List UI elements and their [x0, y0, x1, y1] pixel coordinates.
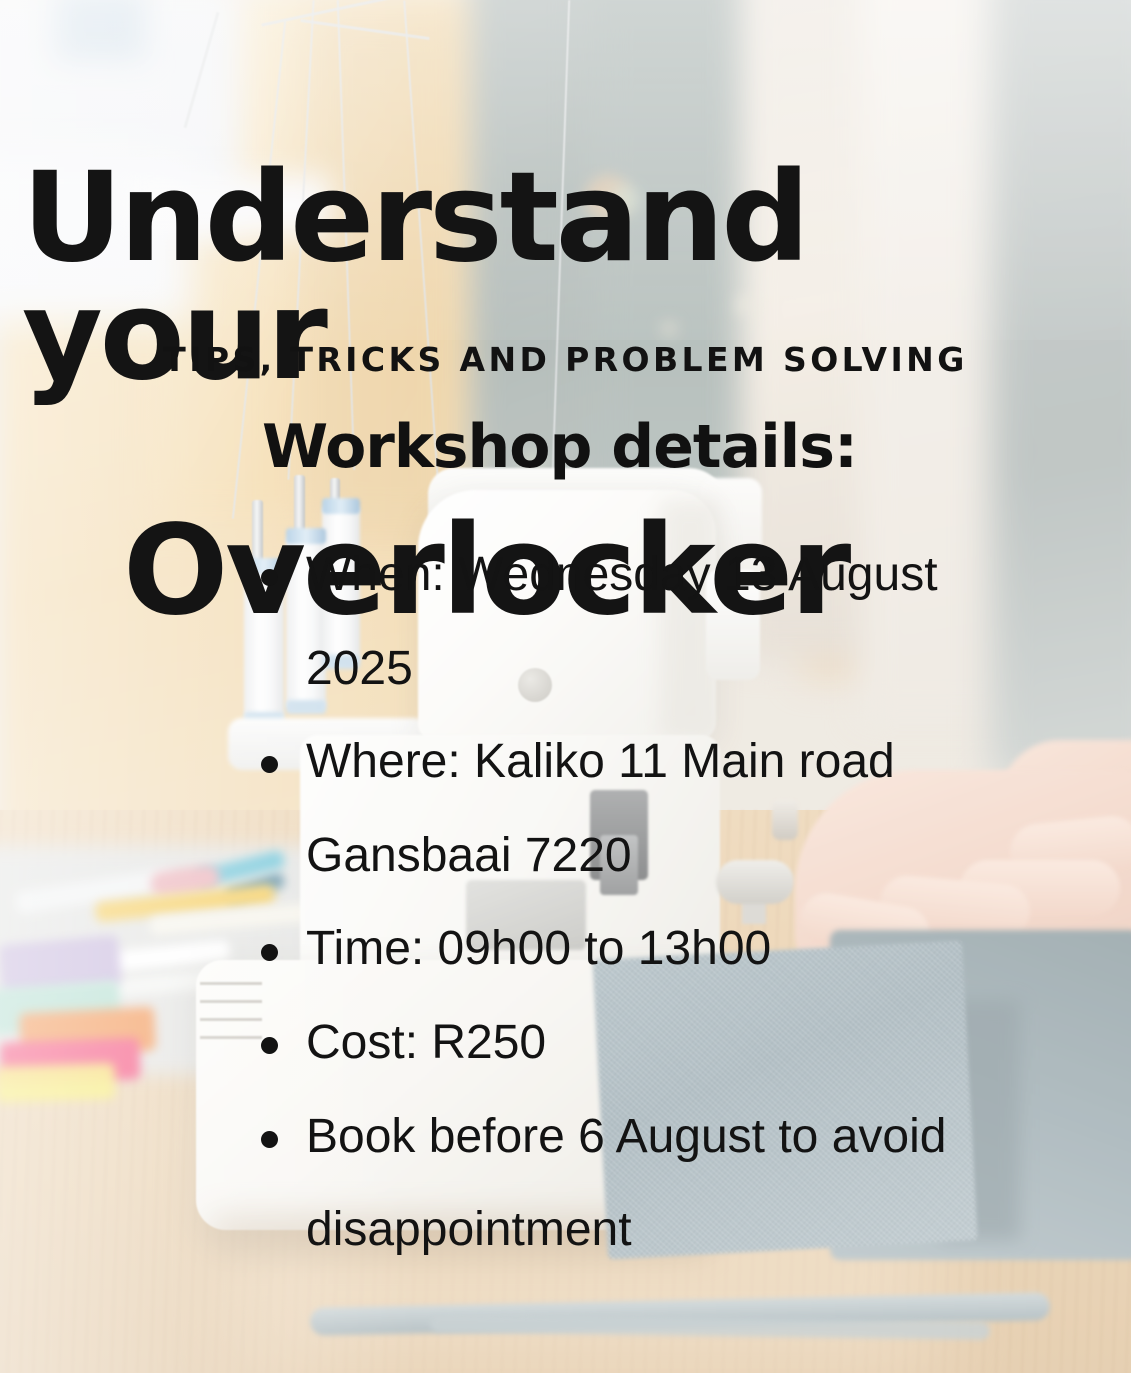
- detail-time: Time: 09h00 to 13h00: [306, 922, 771, 975]
- detail-when: When: Wednesday 13 August 2025: [306, 548, 938, 695]
- bullet-icon: [261, 1037, 278, 1054]
- detail-booking: Book before 6 August to avoid disappoint…: [306, 1110, 946, 1257]
- bullet-icon: [261, 756, 278, 773]
- workshop-details-list: When: Wednesday 13 August 2025 Where: Ka…: [258, 528, 1048, 1277]
- list-item: When: Wednesday 13 August 2025: [258, 528, 1048, 715]
- list-item: Cost: R250: [258, 996, 1048, 1090]
- poster: Understand your Overlocker TIPS, TRICKS …: [0, 0, 1131, 1373]
- list-item: Book before 6 August to avoid disappoint…: [258, 1090, 1048, 1277]
- list-item: Where: Kaliko 11 Main road Gansbaai 7220: [258, 715, 1048, 902]
- detail-cost: Cost: R250: [306, 1016, 546, 1069]
- workshop-details-heading: Workshop details:: [0, 412, 1131, 482]
- poster-subtitle: TIPS, TRICKS AND PROBLEM SOLVING: [0, 340, 1131, 379]
- bullet-icon: [261, 569, 278, 586]
- poster-content: Understand your Overlocker TIPS, TRICKS …: [0, 0, 1131, 1373]
- bullet-icon: [261, 944, 278, 961]
- bullet-icon: [261, 1131, 278, 1148]
- list-item: Time: 09h00 to 13h00: [258, 902, 1048, 996]
- detail-where: Where: Kaliko 11 Main road Gansbaai 7220: [306, 735, 895, 882]
